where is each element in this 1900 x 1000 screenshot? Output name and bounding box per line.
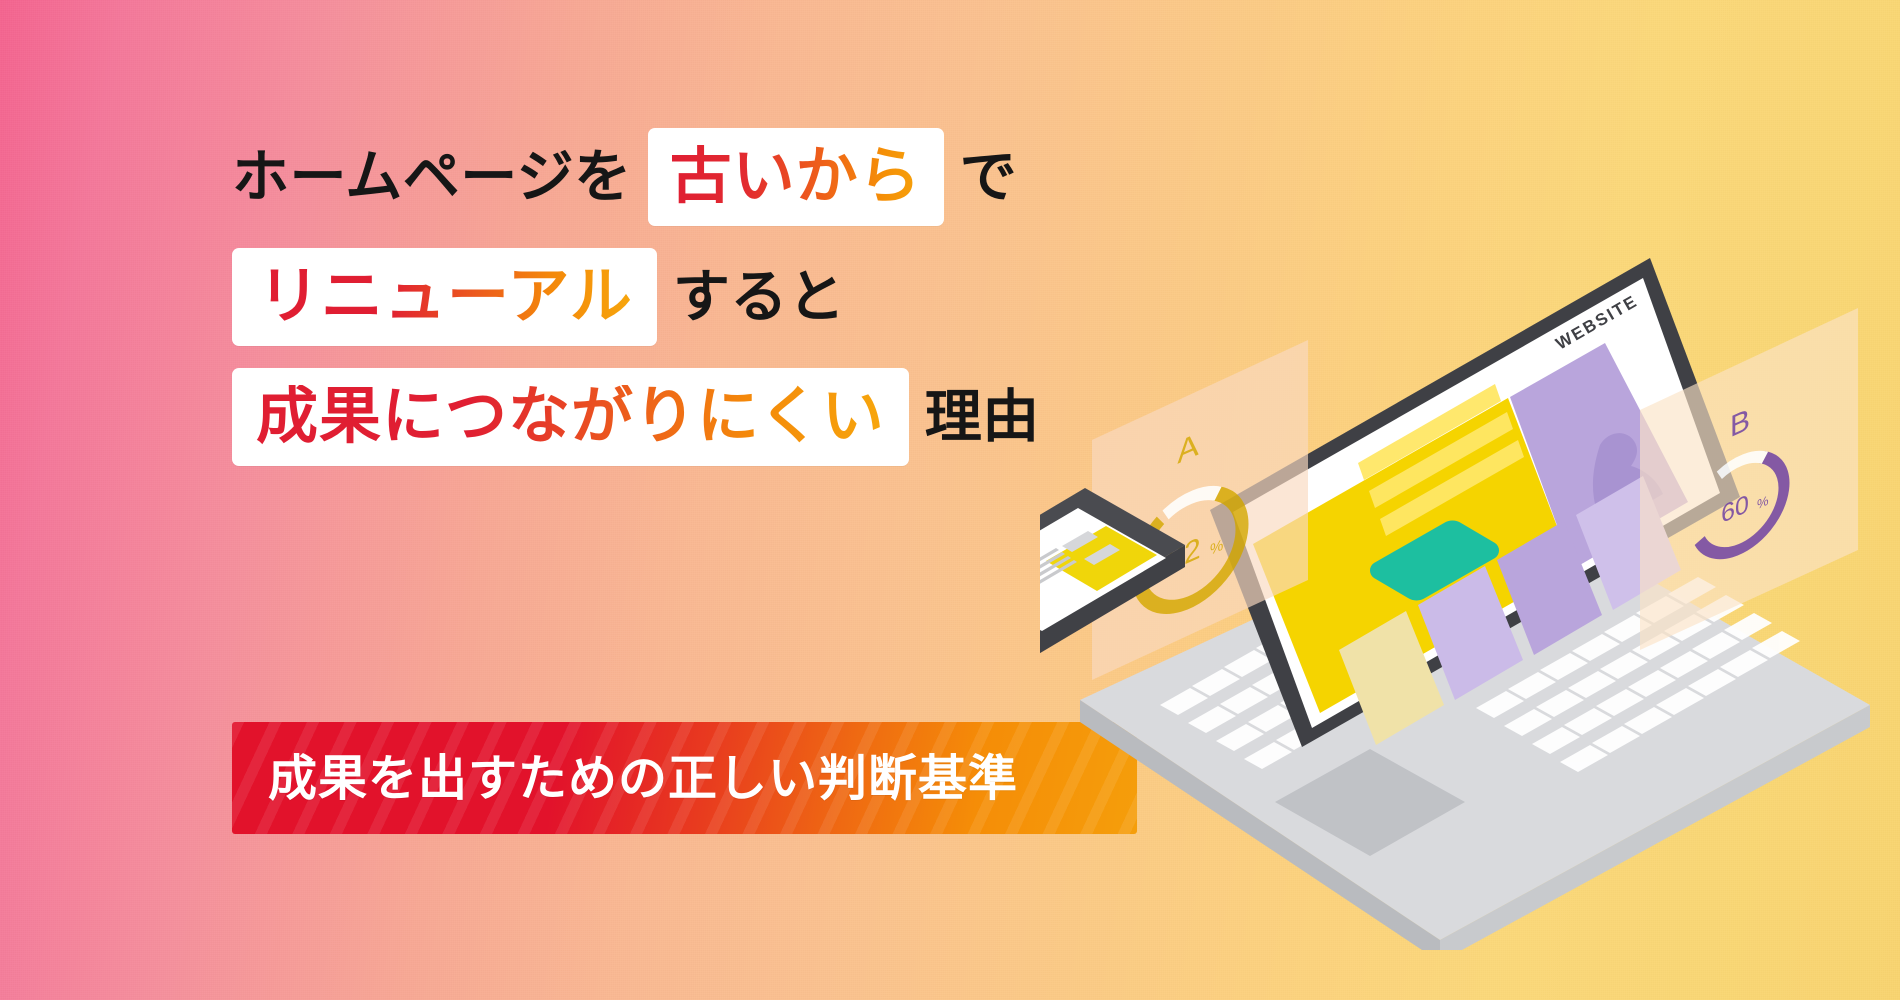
headline-line1-suffix: で xyxy=(960,149,1018,206)
ribbon-label: 成果を出すための正しい判断基準 xyxy=(268,754,1018,803)
hero-banner: ホームページを 古いから で リニューアル すると 成果につながりにくい 理由 … xyxy=(0,0,1900,1000)
device-illustration: WEBSITE xyxy=(1040,250,1900,950)
headline-line2-highlight: リニューアル xyxy=(258,265,633,327)
headline-line3-highlight: 成果につながりにくい xyxy=(256,385,885,447)
subtitle-ribbon: 成果を出すための正しい判断基準 xyxy=(232,722,1137,834)
headline-line1-highlight: 古いから xyxy=(670,145,922,207)
headline-line2-suffix: すると xyxy=(673,269,846,326)
headline-line2-highlight-chip: リニューアル xyxy=(232,248,657,346)
headline-line1-highlight-chip: 古いから xyxy=(648,128,944,226)
headline-line3-suffix: 理由 xyxy=(925,389,1040,446)
headline-line-1: ホームページを 古いから で xyxy=(232,128,1252,226)
headline-line3-highlight-chip: 成果につながりにくい xyxy=(232,368,909,466)
headline-line1-prefix: ホームページを xyxy=(232,149,632,206)
